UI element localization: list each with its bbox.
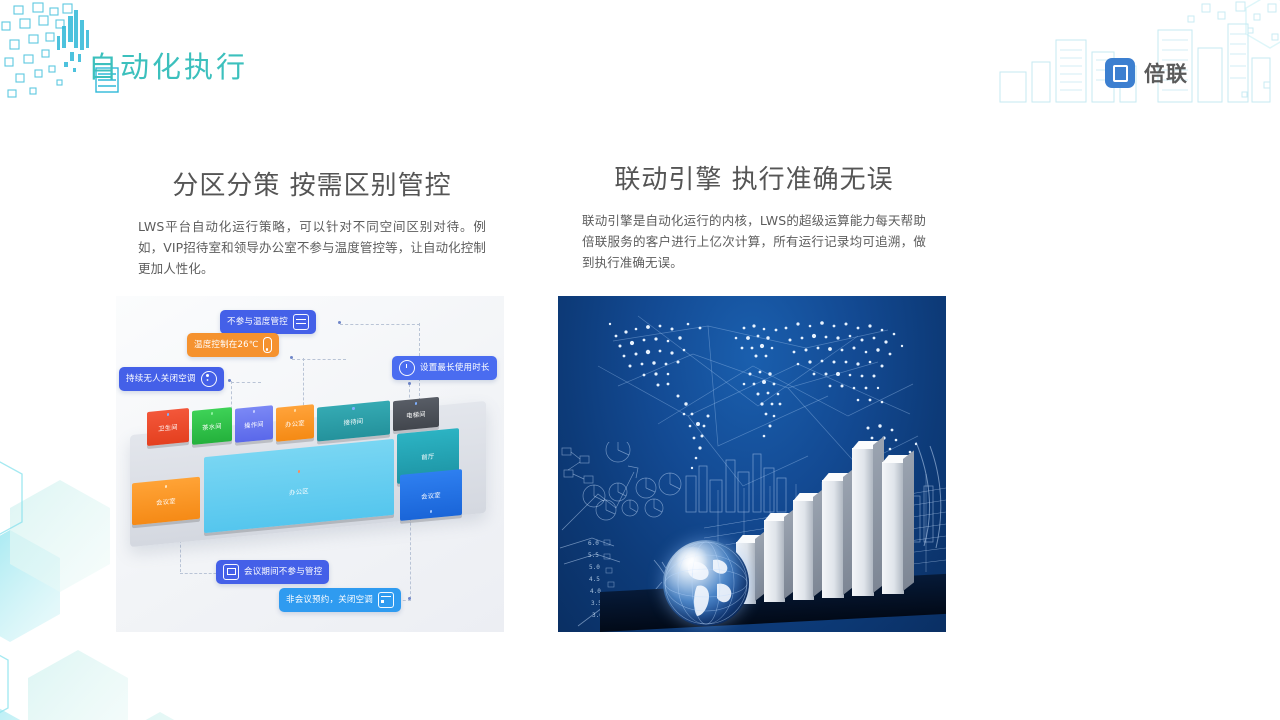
badge-no-temp-control[interactable]: 不参与温度管控 — [220, 310, 316, 334]
room-label: 办公区 — [289, 486, 309, 497]
bar-3 — [764, 520, 785, 602]
square-logo-icon — [1105, 58, 1135, 88]
badge-label: 非会议预约，关闭空调 — [286, 595, 373, 606]
zone-strategy-diagram: 不参与温度管控 温度控制在26℃ 持续无人关闭空调 设置最长使用时长 会议期间不… — [116, 296, 504, 632]
person-sensor-icon — [201, 371, 217, 387]
list-panel-icon — [293, 314, 309, 330]
globe-highlight — [673, 547, 711, 573]
column-right-body: 联动引擎是自动化运行的内核，LWS的超级运算能力每天帮助倍联服务的客户进行上亿次… — [558, 210, 950, 273]
room-meeting-b[interactable]: 会议室 — [400, 469, 462, 521]
bar-chart-artwork: 6.0 5.5 5.0 4.5 4.0 3.5 3.0 — [558, 442, 946, 632]
room-marker — [352, 407, 355, 410]
column-right-heading: 联动引擎 执行准确无误 — [558, 150, 950, 196]
bar-6 — [852, 448, 874, 596]
badge-label: 会议期间不参与管控 — [244, 567, 322, 578]
column-left-body: LWS平台自动化运行策略，可以针对不同空间区别对待。例如，VIP招待室和领导办公… — [116, 216, 508, 279]
connector-line — [410, 508, 412, 599]
room-restroom[interactable]: 卫生间 — [147, 408, 189, 446]
projector-icon — [223, 564, 239, 580]
room-marker — [167, 413, 170, 416]
globe-3d-icon — [663, 540, 749, 626]
badge-temp-26[interactable]: 温度控制在26℃ — [187, 333, 279, 357]
connector-line — [292, 358, 346, 360]
room-marker — [298, 470, 301, 473]
badge-label: 持续无人关闭空调 — [126, 374, 196, 385]
badge-max-duration[interactable]: 设置最长使用时长 — [392, 356, 497, 380]
calendar-icon — [378, 592, 394, 608]
slide-root: 自动化执行 倍联 分区分策 按需区别管控 LWS平台自动化运行策略，可以针对不同… — [0, 0, 1280, 720]
column-left-heading: 分区分策 按需区别管控 — [116, 150, 508, 202]
room-office[interactable]: 办公室 — [276, 404, 314, 442]
badge-unoccupied-off[interactable]: 持续无人关闭空调 — [119, 367, 224, 391]
room-reception[interactable]: 接待间 — [317, 400, 390, 441]
bar-7 — [882, 462, 904, 594]
room-label: 接待间 — [344, 416, 364, 427]
room-operation[interactable]: 操作间 — [235, 405, 273, 443]
room-marker — [430, 510, 433, 513]
room-elevator-lobby[interactable]: 电梯间 — [393, 397, 439, 431]
badge-label: 设置最长使用时长 — [420, 363, 490, 374]
thermometer-icon — [263, 337, 272, 353]
room-label: 前厅 — [421, 451, 434, 461]
room-marker — [294, 409, 297, 412]
badge-meeting-exempt[interactable]: 会议期间不参与管控 — [216, 560, 329, 584]
room-marker — [211, 412, 214, 415]
bar-4 — [793, 500, 814, 600]
connector-line — [340, 323, 420, 325]
brand-name: 倍联 — [1144, 58, 1188, 88]
page-title: 自动化执行 — [88, 50, 248, 84]
room-label: 会议室 — [156, 496, 176, 507]
brand-logo: 倍联 — [1105, 58, 1188, 88]
axis-tick-label: 5.5 — [588, 552, 599, 559]
clock-icon — [399, 360, 415, 376]
room-label: 茶水间 — [202, 421, 222, 432]
room-label: 办公室 — [285, 418, 305, 429]
badge-no-booking-off[interactable]: 非会议预约，关闭空调 — [279, 588, 401, 612]
room-label: 电梯间 — [406, 409, 426, 420]
room-meeting-a[interactable]: 会议室 — [132, 477, 200, 526]
room-marker — [253, 410, 256, 413]
room-label: 卫生间 — [158, 422, 178, 433]
axis-tick-label: 5.0 — [589, 564, 600, 571]
bar-5 — [822, 480, 844, 598]
room-label: 会议室 — [421, 490, 441, 501]
room-marker — [165, 485, 168, 488]
column-right: 联动引擎 执行准确无误 联动引擎是自动化运行的内核，LWS的超级运算能力每天帮助… — [558, 150, 950, 286]
axis-tick-label: 4.5 — [589, 576, 600, 583]
data-visualization-image: 6.0 5.5 5.0 4.5 4.0 3.5 3.0 — [558, 296, 946, 632]
room-marker — [415, 402, 418, 405]
slide-header: 自动化执行 倍联 — [0, 0, 1280, 112]
room-pantry[interactable]: 茶水间 — [192, 407, 232, 445]
badge-label: 温度控制在26℃ — [194, 340, 258, 351]
badge-label: 不参与温度管控 — [227, 317, 288, 328]
connector-line — [231, 381, 261, 383]
axis-tick-label: 6.0 — [588, 540, 599, 547]
column-left: 分区分策 按需区别管控 LWS平台自动化运行策略，可以针对不同空间区别对待。例如… — [116, 150, 508, 292]
room-label: 操作间 — [244, 419, 264, 430]
